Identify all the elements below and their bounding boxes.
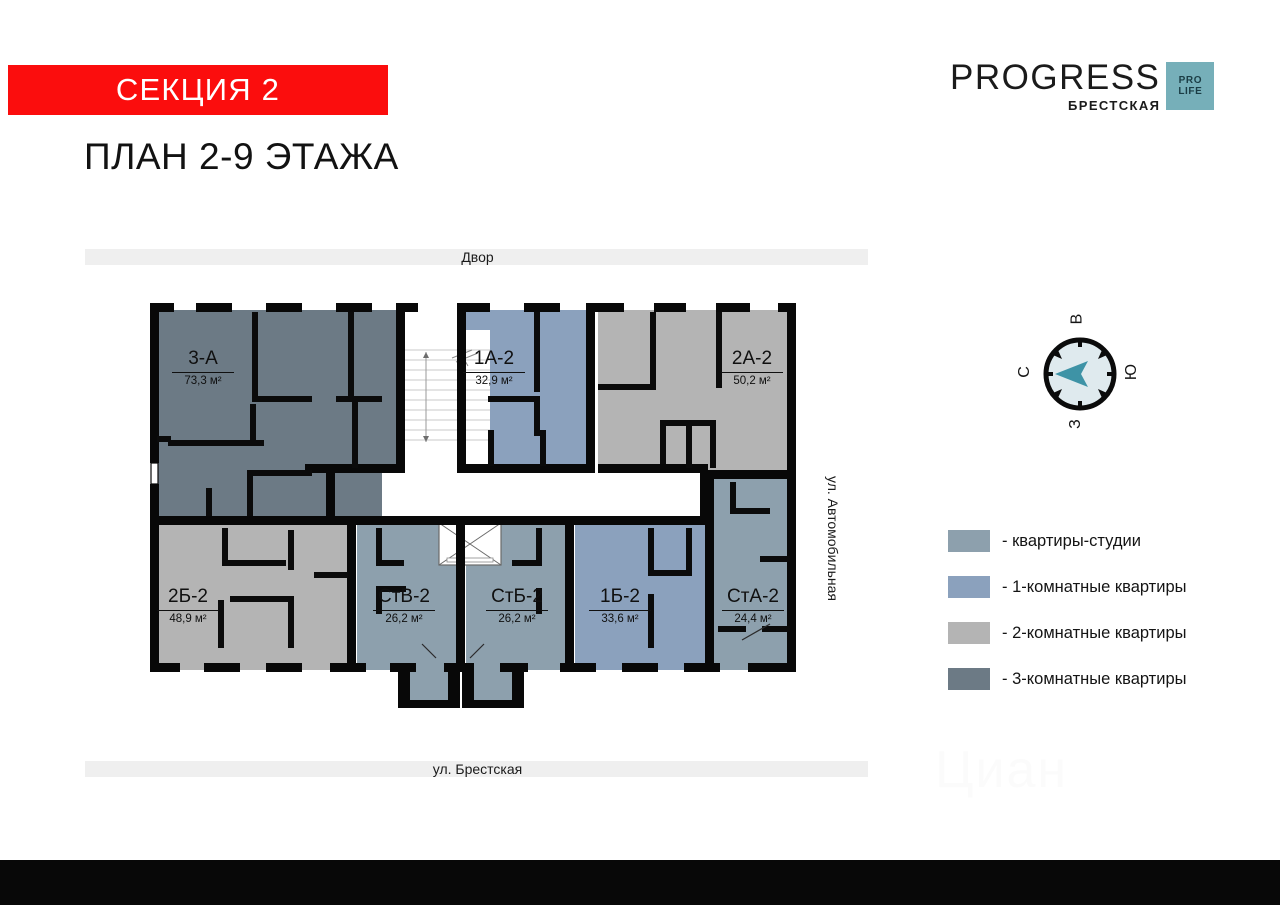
balconies — [398, 668, 524, 708]
apartment-id: 2А-2 — [707, 349, 797, 372]
apartment-fill-2a2 — [598, 310, 790, 470]
courtyard-label: Двор — [0, 249, 955, 265]
legend-row: - 3-комнатные квартиры — [948, 656, 1248, 702]
street-brestskaya-label: ул. Брестская — [0, 761, 955, 777]
compass-west-label: З — [1067, 419, 1085, 429]
brand-logo: PROGRESS БРЕСТСКАЯ PRO LIFE — [950, 60, 1214, 114]
apartment-id: 2Б-2 — [143, 587, 233, 610]
apartment-label: 1А-232,9 м² — [449, 349, 539, 388]
compass-east-label: В — [1068, 314, 1086, 325]
legend-swatch — [948, 530, 990, 552]
apartment-area: 73,3 м² — [158, 376, 248, 388]
apartment-id: СтБ-2 — [472, 587, 562, 610]
apartment-id: 1А-2 — [449, 349, 539, 372]
prolife-badge-line2: LIFE — [1178, 86, 1202, 97]
compass-south-label: Ю — [1123, 364, 1141, 380]
apartment-label-divider — [589, 610, 651, 611]
page-title: ПЛАН 2-9 ЭТАЖА — [84, 136, 399, 178]
apartment-label-divider — [373, 610, 435, 611]
brand-subtitle: БРЕСТСКАЯ — [1068, 98, 1160, 114]
cian-watermark: Циан — [935, 740, 1068, 800]
compass-north-label: С — [1016, 366, 1034, 378]
brand-name: PROGRESS — [950, 60, 1160, 96]
apartment-area: 26,2 м² — [359, 614, 449, 626]
section-badge-label: СЕКЦИЯ 2 — [116, 72, 280, 108]
apartment-label: СтВ-226,2 м² — [359, 587, 449, 626]
compass-rose — [1038, 332, 1122, 416]
balcony-fills — [404, 670, 518, 702]
legend-label: - 1-комнатные квартиры — [1002, 578, 1187, 597]
street-avtomobilnaya-label: ул. Автомобильная — [825, 476, 841, 490]
legend-swatch — [948, 668, 990, 690]
apartment-id: СтВ-2 — [359, 587, 449, 610]
legend-row: - 1-комнатные квартиры — [948, 564, 1248, 610]
legend: - квартиры-студии- 1-комнатные квартиры-… — [948, 518, 1248, 702]
apartment-area: 32,9 м² — [449, 376, 539, 388]
apartment-area: 48,9 м² — [143, 614, 233, 626]
legend-label: - квартиры-студии — [1002, 532, 1141, 551]
prolife-badge-line1: PRO — [1179, 75, 1202, 86]
apartment-id: 1Б-2 — [575, 587, 665, 610]
apartment-label-divider — [721, 372, 783, 373]
apartment-id: СтА-2 — [708, 587, 798, 610]
legend-row: - 2-комнатные квартиры — [948, 610, 1248, 656]
elevator-shaft — [439, 523, 501, 565]
bottom-bar — [0, 860, 1280, 905]
apartment-area: 33,6 м² — [575, 614, 665, 626]
legend-row: - квартиры-студии — [948, 518, 1248, 564]
section-badge: СЕКЦИЯ 2 — [8, 65, 388, 115]
apartment-area: 50,2 м² — [707, 376, 797, 388]
apartment-id: 3-А — [158, 349, 248, 372]
prolife-badge: PRO LIFE — [1166, 62, 1214, 110]
brand-logo-text: PROGRESS БРЕСТСКАЯ — [950, 60, 1166, 114]
apartment-label: 1Б-233,6 м² — [575, 587, 665, 626]
apartment-label-divider — [486, 610, 548, 611]
apartment-label: СтА-224,4 м² — [708, 587, 798, 626]
apartment-label: 3-А73,3 м² — [158, 349, 248, 388]
apartment-label-divider — [157, 610, 219, 611]
street-avtomobilnaya-band — [851, 390, 867, 570]
legend-swatch — [948, 622, 990, 644]
legend-label: - 3-комнатные квартиры — [1002, 670, 1187, 689]
apartment-label: 2А-250,2 м² — [707, 349, 797, 388]
apartment-fill-sta2 — [713, 478, 790, 670]
apartment-area: 24,4 м² — [708, 614, 798, 626]
apartment-label-divider — [722, 610, 784, 611]
door-swings — [422, 624, 770, 658]
apartment-label-divider — [172, 372, 234, 373]
apartment-label: СтБ-226,2 м² — [472, 587, 562, 626]
apartment-fill-1a2 — [466, 310, 586, 470]
legend-label: - 2-комнатные квартиры — [1002, 624, 1187, 643]
apartment-label-divider — [463, 372, 525, 373]
apartment-label: 2Б-248,9 м² — [143, 587, 233, 626]
legend-swatch — [948, 576, 990, 598]
apartment-area: 26,2 м² — [472, 614, 562, 626]
